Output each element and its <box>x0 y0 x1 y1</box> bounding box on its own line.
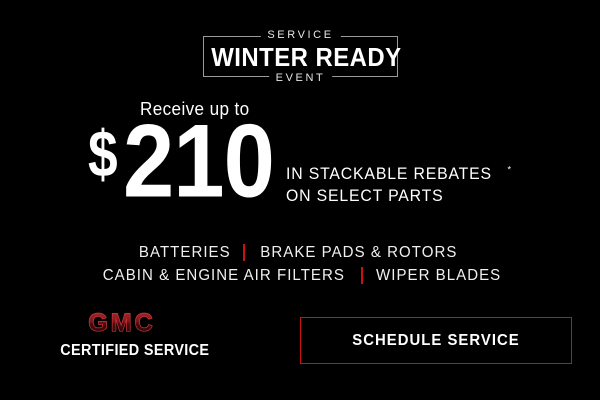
parts-item-wiper-blades-text: WIPER BLADES <box>376 267 501 285</box>
winter-ready-event-badge: SERVICE WINTER READY EVENT <box>203 36 398 77</box>
parts-item-air-filters-text: CABIN & ENGINE AIR FILTERS <box>102 267 344 285</box>
price-row: $ 210 <box>88 124 281 206</box>
eligible-parts-list: BATTERIES BRAKE PADS & ROTORS CABIN & EN… <box>0 241 600 287</box>
rebate-description-line-1-text: IN STACKABLE REBATES <box>286 163 492 185</box>
badge-title-text: WINTER READY <box>211 43 401 71</box>
badge-subbrow: EVENT <box>269 72 333 84</box>
certified-service-tagline-text: CERTIFIED SERVICE <box>60 342 209 359</box>
parts-item-brake-pads-rotors: BRAKE PADS & ROTORS <box>254 244 464 262</box>
gmc-logo: GMC GMC <box>88 310 155 336</box>
promo-banner: SERVICE WINTER READY EVENT Receive up to… <box>0 0 600 400</box>
rebate-description-line-2: ON SELECT PARTS <box>286 185 512 207</box>
rebate-description-line-2-text: ON SELECT PARTS <box>286 185 444 207</box>
currency-symbol: $ <box>88 122 117 188</box>
gmc-logo-text: GMC <box>88 310 155 336</box>
rebate-amount: 210 <box>123 117 274 206</box>
certified-service-tagline: CERTIFIED SERVICE <box>52 342 192 359</box>
badge-eyebrow: SERVICE <box>260 29 340 41</box>
parts-item-air-filters: CABIN & ENGINE AIR FILTERS <box>95 267 353 285</box>
parts-item-batteries: BATTERIES <box>136 244 234 262</box>
gmc-certified-service-lockup: GMC GMC CERTIFIED SERVICE <box>52 310 192 359</box>
parts-item-wiper-blades: WIPER BLADES <box>372 267 505 285</box>
parts-separator-icon <box>361 267 363 284</box>
rebate-description: IN STACKABLE REBATES* ON SELECT PARTS <box>286 163 512 207</box>
badge-title: WINTER READY <box>203 43 398 71</box>
parts-line-2: CABIN & ENGINE AIR FILTERS WIPER BLADES <box>0 264 600 287</box>
parts-line-1: BATTERIES BRAKE PADS & ROTORS <box>0 241 600 264</box>
rebate-description-line-1: IN STACKABLE REBATES* <box>286 163 512 185</box>
parts-item-batteries-text: BATTERIES <box>139 244 231 262</box>
parts-separator-icon <box>243 244 245 261</box>
schedule-service-button-label: SCHEDULE SERVICE <box>352 332 519 350</box>
parts-item-brake-pads-rotors-text: BRAKE PADS & ROTORS <box>260 244 457 262</box>
footnote-marker: * <box>507 164 511 174</box>
schedule-service-button[interactable]: SCHEDULE SERVICE <box>300 317 572 364</box>
